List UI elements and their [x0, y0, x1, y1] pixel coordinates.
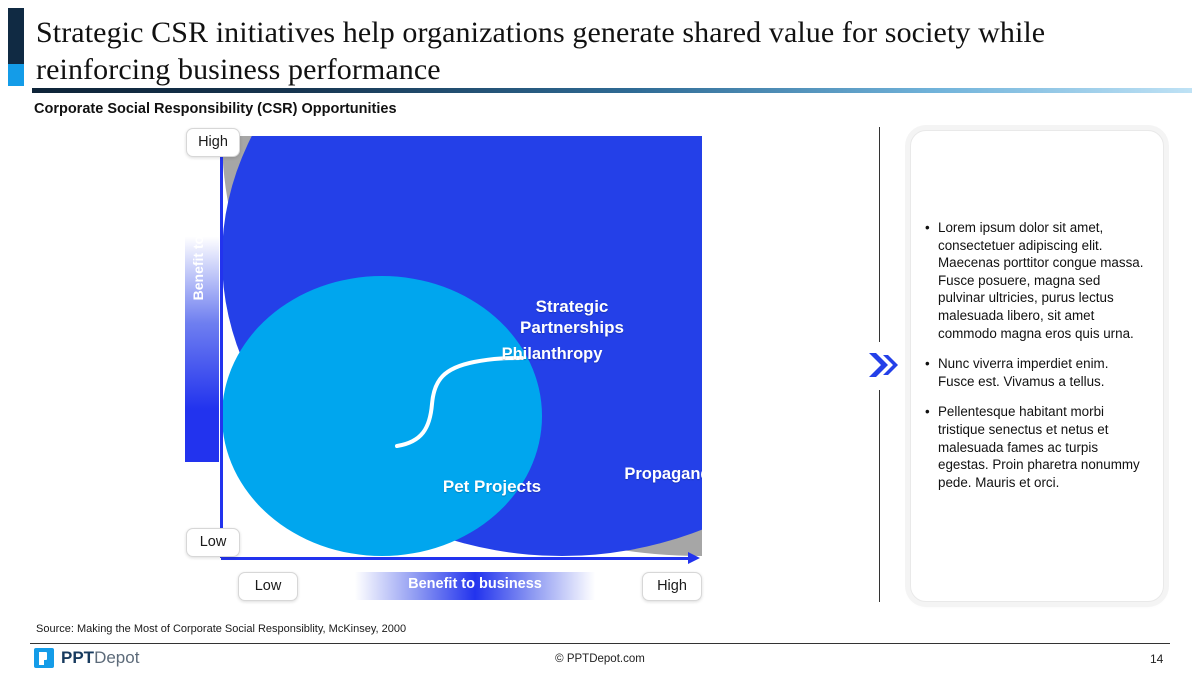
band-label-pet-projects: Pet Projects — [422, 476, 562, 497]
y-axis-tick-low: Low — [186, 528, 240, 557]
y-axis-title: Benefit to society — [190, 142, 206, 342]
accent-bar-cyan-segment — [8, 64, 24, 86]
notes-bullet-list: • Lorem ipsum dolor sit amet, consectetu… — [925, 219, 1145, 504]
notes-card: • Lorem ipsum dolor sit amet, consectetu… — [910, 130, 1164, 602]
x-axis-arrowhead-icon — [688, 552, 700, 564]
x-axis-tick-low: Low — [238, 572, 298, 601]
bullet-text: Pellentesque habitant morbi tristique se… — [938, 403, 1145, 491]
csr-opportunity-chart: Strategic Partnerships Philanthropy Prop… — [180, 126, 720, 616]
copyright-text: © PPTDepot.com — [0, 653, 1200, 665]
slide-subtitle: Corporate Social Responsibility (CSR) Op… — [34, 101, 397, 117]
list-item: • Pellentesque habitant morbi tristique … — [925, 403, 1145, 491]
slide-title: Strategic CSR initiatives help organizat… — [36, 14, 1146, 88]
bullet-text: Nunc viverra imperdiet enim. Fusce est. … — [938, 355, 1145, 390]
title-divider-rule — [32, 88, 1192, 93]
panel-divider-lower — [879, 390, 880, 602]
band-label-propaganda: Propaganda — [582, 464, 702, 485]
band-label-strategic-partnerships: Strategic Partnerships — [492, 296, 652, 338]
y-axis-line — [220, 140, 223, 558]
page-number: 14 — [1150, 652, 1163, 666]
footer-divider-rule — [30, 643, 1170, 644]
x-axis-tick-high: High — [642, 572, 702, 601]
x-axis-title: Benefit to business — [355, 576, 595, 592]
double-chevron-right-icon — [866, 348, 900, 382]
band-label-philanthropy: Philanthropy — [462, 344, 642, 365]
panel-divider-upper — [879, 127, 880, 342]
y-axis-tick-high: High — [186, 128, 240, 157]
accent-bar-navy-segment — [8, 8, 24, 64]
x-axis-line — [221, 557, 691, 560]
list-item: • Nunc viverra imperdiet enim. Fusce est… — [925, 355, 1145, 390]
list-item: • Lorem ipsum dolor sit amet, consectetu… — [925, 219, 1145, 342]
bullet-marker: • — [925, 219, 938, 342]
title-accent-bar — [8, 8, 24, 86]
bullet-marker: • — [925, 403, 938, 491]
bullet-text: Lorem ipsum dolor sit amet, consectetuer… — [938, 219, 1145, 342]
source-citation: Source: Making the Most of Corporate Soc… — [36, 623, 406, 635]
bullet-marker: • — [925, 355, 938, 390]
chart-plot-area: Strategic Partnerships Philanthropy Prop… — [222, 136, 702, 556]
